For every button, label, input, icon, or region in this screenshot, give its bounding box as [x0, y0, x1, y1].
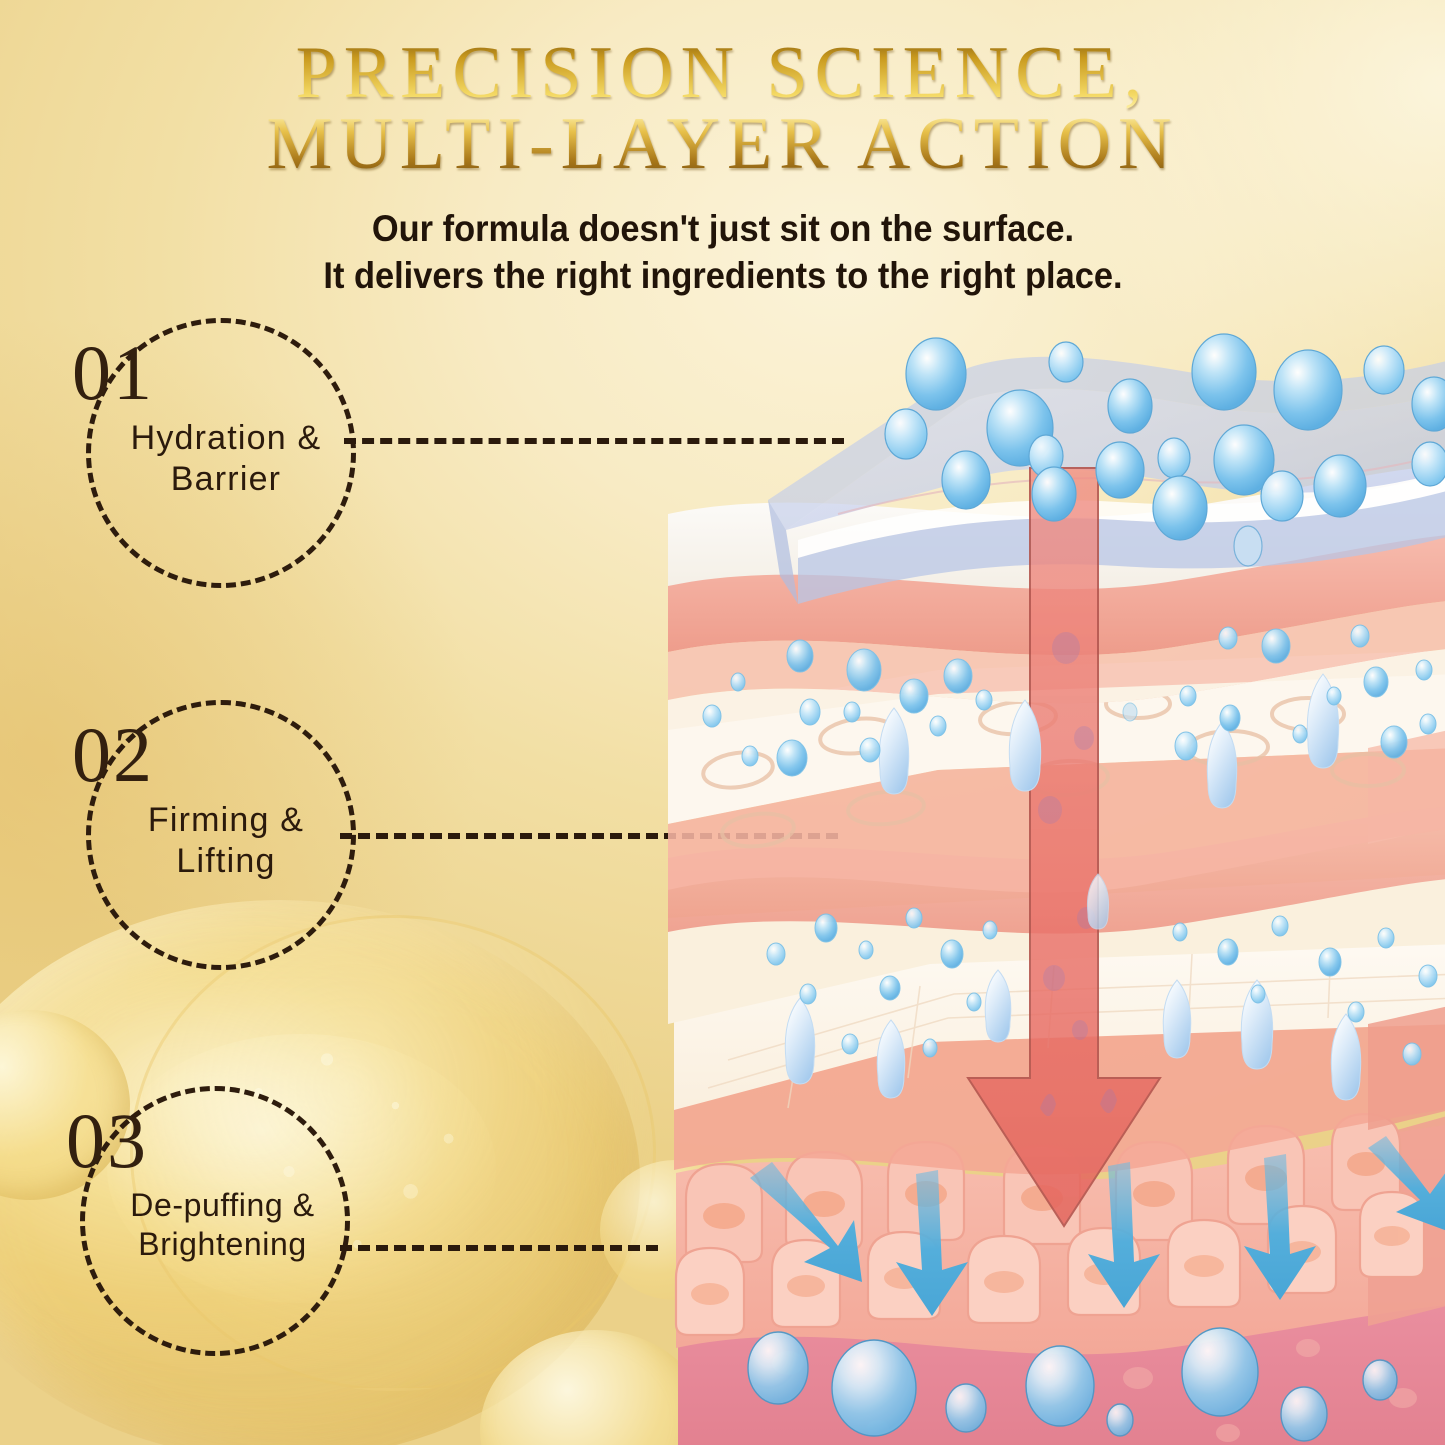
step-number: 02: [72, 716, 154, 794]
connector-line-03: [340, 1245, 658, 1251]
step-item-02[interactable]: 02 Firming & Lifting: [28, 692, 428, 992]
page-title: PRECISION SCIENCE, MULTI-LAYER ACTION: [0, 38, 1445, 180]
step-number: 01: [72, 334, 154, 412]
step-item-03[interactable]: 03 De-puffing & Brightening: [22, 1078, 422, 1378]
layer-deep-dermis-side: [1368, 1004, 1445, 1130]
step-label: De-puffing & Brightening: [70, 1186, 375, 1264]
infographic-canvas: PRECISION SCIENCE, MULTI-LAYER ACTION Ou…: [0, 0, 1445, 1445]
page-subtitle: Our formula doesn't just sit on the surf…: [197, 206, 1248, 299]
skin-cross-section-diagram: [668, 318, 1445, 1445]
step-label: Firming & Lifting: [80, 800, 372, 883]
step-item-01[interactable]: 01 Hydration & Barrier: [28, 310, 428, 610]
step-label: Hydration & Barrier: [80, 418, 372, 501]
step-number: 03: [66, 1102, 148, 1180]
header: PRECISION SCIENCE, MULTI-LAYER ACTION Ou…: [0, 38, 1445, 299]
